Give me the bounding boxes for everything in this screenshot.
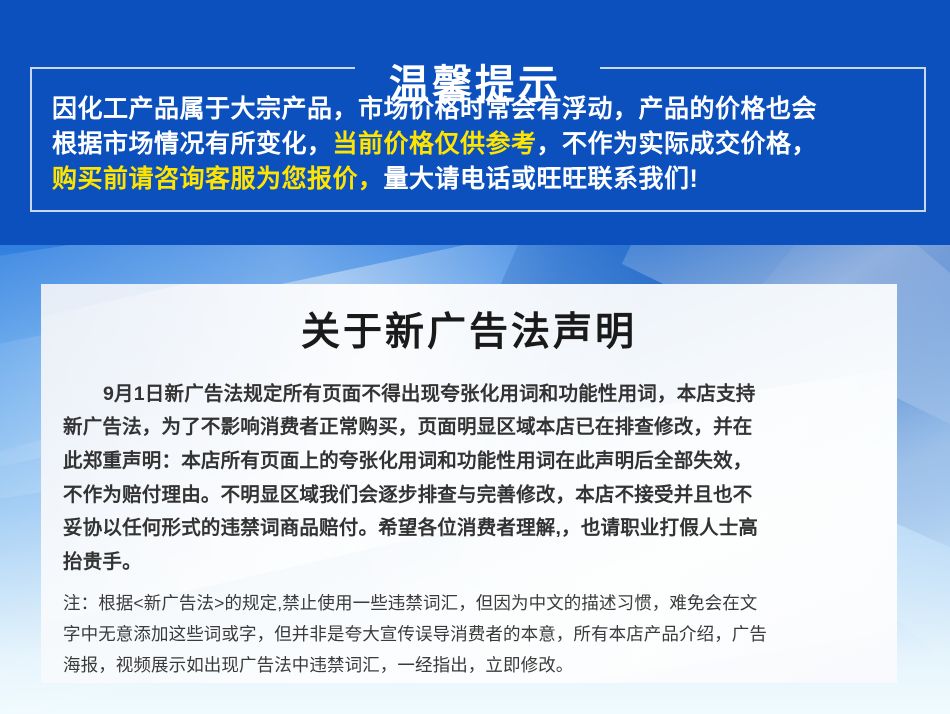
notice-line-2: 根据市场情况有所变化，当前价格仅供参考，不作为实际成交价格， — [52, 127, 900, 162]
notice-line-3-highlight: 购买前请咨询客服为您报价， — [52, 165, 384, 193]
statement-paragraph-line-4: 不作为赔付理由。不明显区域我们会逐步排查与完善修改，本店不接受并且也不 — [63, 479, 875, 513]
notice-body: 因化工产品属于大宗产品，市场价格时常会有浮动，产品的价格也会 根据市场情况有所变… — [52, 92, 900, 197]
statement-note-line-3: 海报，视频展示如出现广告法中违禁词汇，一经指出，立即修改。 — [63, 650, 875, 681]
statement-note-block: 注：根据<新广告法>的规定,禁止使用一些违禁词汇，但因为中文的描述习惯，难免会在… — [63, 588, 875, 681]
statement-note-line-1: 注：根据<新广告法>的规定,禁止使用一些违禁词汇，但因为中文的描述习惯，难免会在… — [63, 588, 875, 619]
notice-title: 温馨提示 — [0, 65, 950, 105]
statement-paragraph-line-1: 9月1日新广告法规定所有页面不得出现夸张化用词和功能性用词，本店支持 — [63, 378, 875, 412]
statement-paragraph-line-6: 抬贵手。 — [63, 546, 875, 580]
statement-paragraph-line-5: 妥协以任何形式的违禁词商品赔付。希望各位消费者理解,，也请职业打假人士高 — [63, 512, 875, 546]
promo-disclaimer-page: 温馨提示 因化工产品属于大宗产品，市场价格时常会有浮动，产品的价格也会 根据市场… — [0, 0, 950, 714]
warm-tips-banner: 温馨提示 因化工产品属于大宗产品，市场价格时常会有浮动，产品的价格也会 根据市场… — [0, 0, 950, 245]
notice-line-2-highlight: 当前价格仅供参考 — [333, 130, 537, 158]
notice-line-3-seg-2: 量大请电话或旺旺联系我们! — [384, 165, 699, 193]
statement-note-line-2: 字中无意添加这些词或字，但并非是夸大宣传误导消费者的本意，所有本店产品介绍，广告 — [63, 619, 875, 650]
notice-line-3: 购买前请咨询客服为您报价，量大请电话或旺旺联系我们! — [52, 162, 900, 197]
statement-body: 9月1日新广告法规定所有页面不得出现夸张化用词和功能性用词，本店支持 新广告法，… — [41, 356, 897, 682]
statement-paragraph-line-3: 此郑重声明：本店所有页面上的夸张化用词和功能性用词在此声明后全部失效， — [63, 445, 875, 479]
notice-line-2-seg-1: 根据市场情况有所变化， — [52, 130, 333, 158]
statement-title: 关于新广告法声明 — [41, 284, 897, 356]
notice-line-2-seg-3: ，不作为实际成交价格， — [537, 130, 818, 158]
advertising-law-statement-panel: 关于新广告法声明 9月1日新广告法规定所有页面不得出现夸张化用词和功能性用词，本… — [41, 284, 897, 683]
statement-paragraph-line-2: 新广告法，为了不影响消费者正常购买，页面明显区域本店已在排查修改，并在 — [63, 411, 875, 445]
